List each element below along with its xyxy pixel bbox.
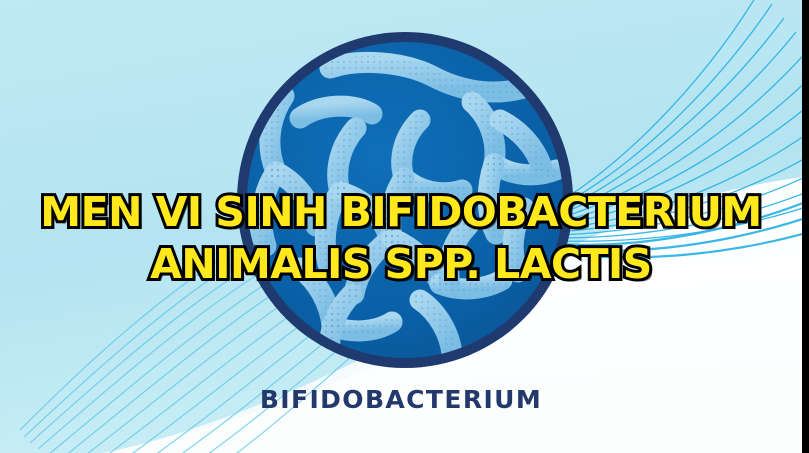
subtitle-label: BIFIDOBACTERIUM xyxy=(0,385,802,414)
bifidobacterium-circle-illustration xyxy=(237,32,573,368)
slide-canvas: MEN VI SINH BIFIDOBACTERIUM ANIMALIS SPP… xyxy=(0,0,809,453)
letterbox-right-edge xyxy=(802,0,809,453)
